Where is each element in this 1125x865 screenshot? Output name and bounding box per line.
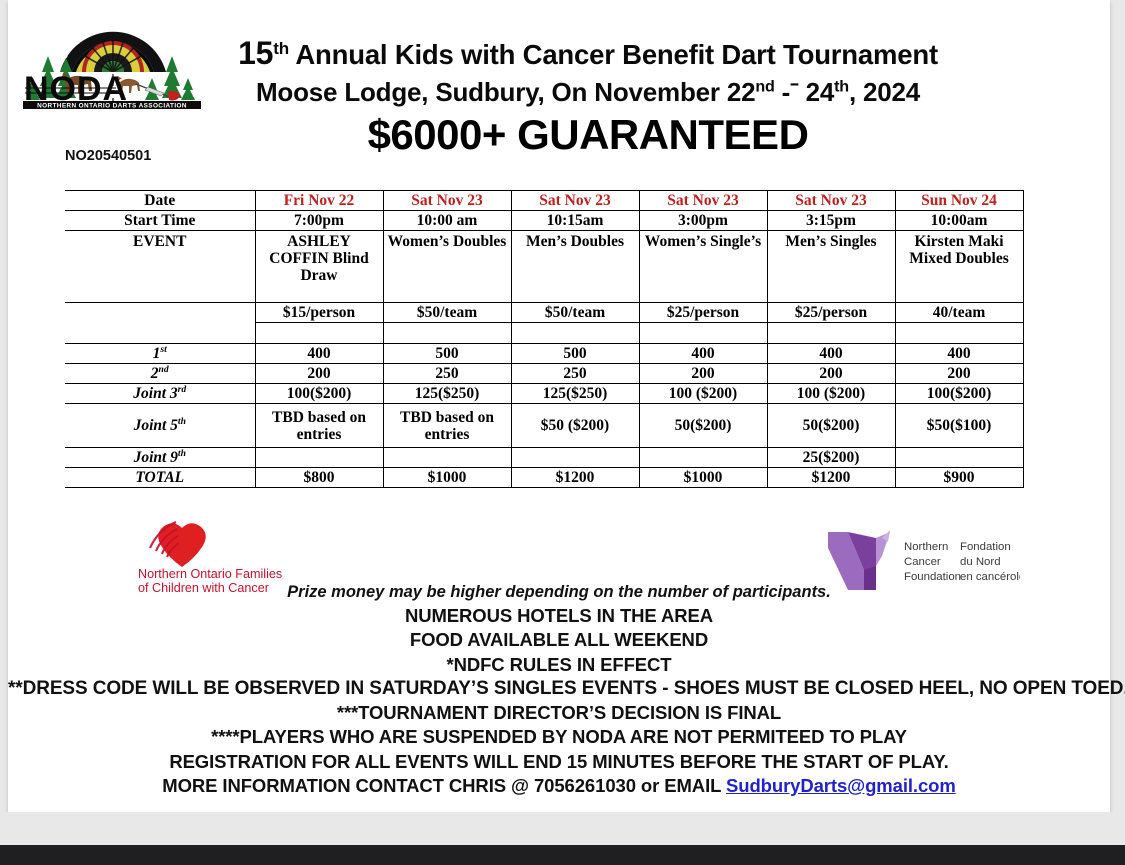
cell-fifth-3: 50($200) bbox=[639, 404, 767, 448]
note-director-decision: ***TOURNAMENT DIRECTOR’S DECISION IS FIN… bbox=[8, 701, 1110, 725]
note-hotels: NUMEROUS HOTELS IN THE AREA bbox=[8, 604, 1110, 628]
prize-guarantee-headline: $6000+ GUARANTEED bbox=[208, 112, 968, 158]
cell-time-0: 7:00pm bbox=[255, 211, 383, 231]
heart-icon bbox=[150, 522, 206, 567]
cell-total-0: $800 bbox=[255, 468, 383, 488]
cell-event-1: Women’s Doubles bbox=[383, 231, 511, 303]
cell-fee-3: $25/person bbox=[639, 303, 767, 323]
cell-second-1: 250 bbox=[383, 364, 511, 384]
venue-date-c: , 2024 bbox=[849, 77, 920, 107]
row-label-joint-fifth: Joint 5th bbox=[65, 404, 255, 448]
ncf-en-line-2: Cancer bbox=[904, 556, 941, 568]
cell-total-4: $1200 bbox=[767, 468, 895, 488]
schedule-table: Date Fri Nov 22 Sat Nov 23 Sat Nov 23 Sa… bbox=[65, 190, 1024, 488]
cell-total-1: $1000 bbox=[383, 468, 511, 488]
svg-text:5: 5 bbox=[89, 29, 93, 36]
page-bottom-margin bbox=[0, 812, 1125, 845]
cell-blank-2 bbox=[511, 323, 639, 344]
cell-ninth-2 bbox=[511, 448, 639, 468]
footer-notes: Prize money may be higher depending on t… bbox=[8, 580, 1110, 798]
cell-fifth-5: $50($100) bbox=[895, 404, 1023, 448]
logo-tagline: NORTHERN ONTARIO DARTS ASSOCIATION bbox=[37, 103, 187, 110]
date-sup-nd: nd bbox=[755, 77, 774, 95]
cell-date-5: Sun Nov 24 bbox=[895, 191, 1023, 211]
cell-second-5: 200 bbox=[895, 364, 1023, 384]
cell-blank-4 bbox=[767, 323, 895, 344]
cell-second-2: 250 bbox=[511, 364, 639, 384]
cell-event-4: Men’s Singles bbox=[767, 231, 895, 303]
cell-third-0: 100($200) bbox=[255, 384, 383, 404]
cell-fee-5: 40/team bbox=[895, 303, 1023, 323]
note-dress-code: **DRESS CODE WILL BE OBSERVED IN SATURDA… bbox=[8, 677, 1110, 701]
heading-ordinal-number: 15 bbox=[238, 35, 273, 71]
row-label-first: 1st bbox=[65, 344, 255, 364]
nofcc-line-1: Northern Ontario Families bbox=[138, 567, 282, 581]
table-row-blank bbox=[65, 323, 1023, 344]
heading-line-1-rest: Annual Kids with Cancer Benefit Dart Tou… bbox=[289, 39, 938, 70]
note-prize-money: Prize money may be higher depending on t… bbox=[8, 580, 1110, 604]
table-row-start-time: Start Time 7:00pm 10:00 am 10:15am 3:00p… bbox=[65, 211, 1023, 231]
note-suspended-players: ****PLAYERS WHO ARE SUSPENDED BY NODA AR… bbox=[8, 725, 1110, 749]
venue-date-a: Moose Lodge, Sudbury, On November 22 bbox=[256, 77, 755, 107]
svg-text:12: 12 bbox=[73, 39, 80, 46]
cell-first-4: 400 bbox=[767, 344, 895, 364]
contact-text: MORE INFORMATION CONTACT CHRIS @ 7056261… bbox=[162, 775, 726, 796]
cell-blank-0 bbox=[255, 323, 383, 344]
row-label-blank bbox=[65, 323, 255, 344]
heading-ordinal-suffix: th bbox=[273, 39, 289, 58]
cell-total-5: $900 bbox=[895, 468, 1023, 488]
cell-time-5: 10:00am bbox=[895, 211, 1023, 231]
cell-total-3: $1000 bbox=[639, 468, 767, 488]
cell-ninth-3 bbox=[639, 448, 767, 468]
screenshot-viewport: 9 12 5 20 1 18 4 bbox=[0, 0, 1125, 865]
cell-ninth-0 bbox=[255, 448, 383, 468]
row-label-total: TOTAL bbox=[65, 468, 255, 488]
cell-time-2: 10:15am bbox=[511, 211, 639, 231]
cell-second-0: 200 bbox=[255, 364, 383, 384]
cell-blank-1 bbox=[383, 323, 511, 344]
contact-email-link[interactable]: SudburyDarts@gmail.com bbox=[726, 775, 956, 796]
svg-text:20: 20 bbox=[110, 24, 117, 31]
cell-time-3: 3:00pm bbox=[639, 211, 767, 231]
cell-fee-2: $50/team bbox=[511, 303, 639, 323]
table-row-joint-third: Joint 3rd 100($200) 125($250) 125($250) … bbox=[65, 384, 1023, 404]
cell-date-4: Sat Nov 23 bbox=[767, 191, 895, 211]
table-row-first-place: 1st 400 500 500 400 400 400 bbox=[65, 344, 1023, 364]
ncf-en-line-1: Northern bbox=[904, 541, 948, 553]
cell-fifth-0: TBD based on entries bbox=[255, 404, 383, 448]
heading-line-1: 15th Annual Kids with Cancer Benefit Dar… bbox=[208, 38, 968, 70]
svg-text:4: 4 bbox=[159, 53, 163, 60]
row-label-second: 2nd bbox=[65, 364, 255, 384]
cell-fifth-2: $50 ($200) bbox=[511, 404, 639, 448]
cell-third-3: 100 ($200) bbox=[639, 384, 767, 404]
cell-second-4: 200 bbox=[767, 364, 895, 384]
window-bottom-bar bbox=[0, 845, 1125, 865]
cell-third-5: 100($200) bbox=[895, 384, 1023, 404]
noda-logo: 9 12 5 20 1 18 4 bbox=[20, 2, 206, 110]
cell-date-0: Fri Nov 22 bbox=[255, 191, 383, 211]
cell-ninth-5 bbox=[895, 448, 1023, 468]
cell-fifth-4: 50($200) bbox=[767, 404, 895, 448]
cell-date-1: Sat Nov 23 bbox=[383, 191, 511, 211]
table-row-joint-fifth: Joint 5th TBD based on entries TBD based… bbox=[65, 404, 1023, 448]
svg-text:1: 1 bbox=[132, 28, 136, 35]
row-label-entry-fee bbox=[65, 303, 255, 323]
date-sup-th: th bbox=[834, 77, 849, 95]
ncf-fr-line-1: Fondation bbox=[960, 541, 1011, 553]
row-label-date: Date bbox=[65, 191, 255, 211]
cell-fee-1: $50/team bbox=[383, 303, 511, 323]
cell-first-1: 500 bbox=[383, 344, 511, 364]
cell-total-2: $1200 bbox=[511, 468, 639, 488]
cell-event-2: Men’s Doubles bbox=[511, 231, 639, 303]
cell-first-2: 500 bbox=[511, 344, 639, 364]
table-row-date: Date Fri Nov 22 Sat Nov 23 Sat Nov 23 Sa… bbox=[65, 191, 1023, 211]
svg-text:18: 18 bbox=[146, 38, 153, 45]
row-label-joint-ninth: Joint 9th bbox=[65, 448, 255, 468]
cell-first-0: 400 bbox=[255, 344, 383, 364]
cell-date-2: Sat Nov 23 bbox=[511, 191, 639, 211]
heading-line-2: Moose Lodge, Sudbury, On November 22nd -… bbox=[208, 76, 968, 108]
document-page: 9 12 5 20 1 18 4 bbox=[8, 0, 1110, 812]
note-food: FOOD AVAILABLE ALL WEEKEND bbox=[8, 628, 1110, 652]
cell-second-3: 200 bbox=[639, 364, 767, 384]
row-label-start-time: Start Time bbox=[65, 211, 255, 231]
table-row-entry-fee: $15/person $50/team $50/team $25/person … bbox=[65, 303, 1023, 323]
cell-blank-3 bbox=[639, 323, 767, 344]
cell-event-5: Kirsten Maki Mixed Doubles bbox=[895, 231, 1023, 303]
cell-fee-0: $15/person bbox=[255, 303, 383, 323]
cell-ninth-1 bbox=[383, 448, 511, 468]
table-row-joint-ninth: Joint 9th 25($200) bbox=[65, 448, 1023, 468]
cell-date-3: Sat Nov 23 bbox=[639, 191, 767, 211]
cell-ninth-4: 25($200) bbox=[767, 448, 895, 468]
cell-time-4: 3:15pm bbox=[767, 211, 895, 231]
cell-third-1: 125($250) bbox=[383, 384, 511, 404]
cell-event-3: Women’s Single’s bbox=[639, 231, 767, 303]
note-rules: *NDFC RULES IN EFFECT bbox=[8, 653, 1110, 677]
cell-blank-5 bbox=[895, 323, 1023, 344]
venue-date-b: -ˉ 24 bbox=[775, 77, 834, 107]
row-label-event: EVENT bbox=[65, 231, 255, 303]
cell-fee-4: $25/person bbox=[767, 303, 895, 323]
note-contact: MORE INFORMATION CONTACT CHRIS @ 7056261… bbox=[8, 774, 1110, 798]
row-label-joint-third: Joint 3rd bbox=[65, 384, 255, 404]
cell-time-1: 10:00 am bbox=[383, 211, 511, 231]
schedule-table-wrapper: Date Fri Nov 22 Sat Nov 23 Sat Nov 23 Sa… bbox=[65, 190, 1023, 488]
table-row-event: EVENT ASHLEY COFFIN Blind Draw Women’s D… bbox=[65, 231, 1023, 303]
cell-third-2: 125($250) bbox=[511, 384, 639, 404]
table-row-total: TOTAL $800 $1000 $1200 $1000 $1200 $900 bbox=[65, 468, 1023, 488]
ncf-fr-line-2: du Nord bbox=[960, 556, 1001, 568]
cell-first-5: 400 bbox=[895, 344, 1023, 364]
note-registration: REGISTRATION FOR ALL EVENTS WILL END 15 … bbox=[8, 750, 1110, 774]
table-row-second-place: 2nd 200 250 250 200 200 200 bbox=[65, 364, 1023, 384]
cell-fifth-1: TBD based on entries bbox=[383, 404, 511, 448]
cell-first-3: 400 bbox=[639, 344, 767, 364]
cell-third-4: 100 ($200) bbox=[767, 384, 895, 404]
reference-number: NO20540501 bbox=[65, 148, 151, 164]
flyer-heading-block: 15th Annual Kids with Cancer Benefit Dar… bbox=[208, 38, 968, 158]
cell-event-0: ASHLEY COFFIN Blind Draw bbox=[255, 231, 383, 303]
